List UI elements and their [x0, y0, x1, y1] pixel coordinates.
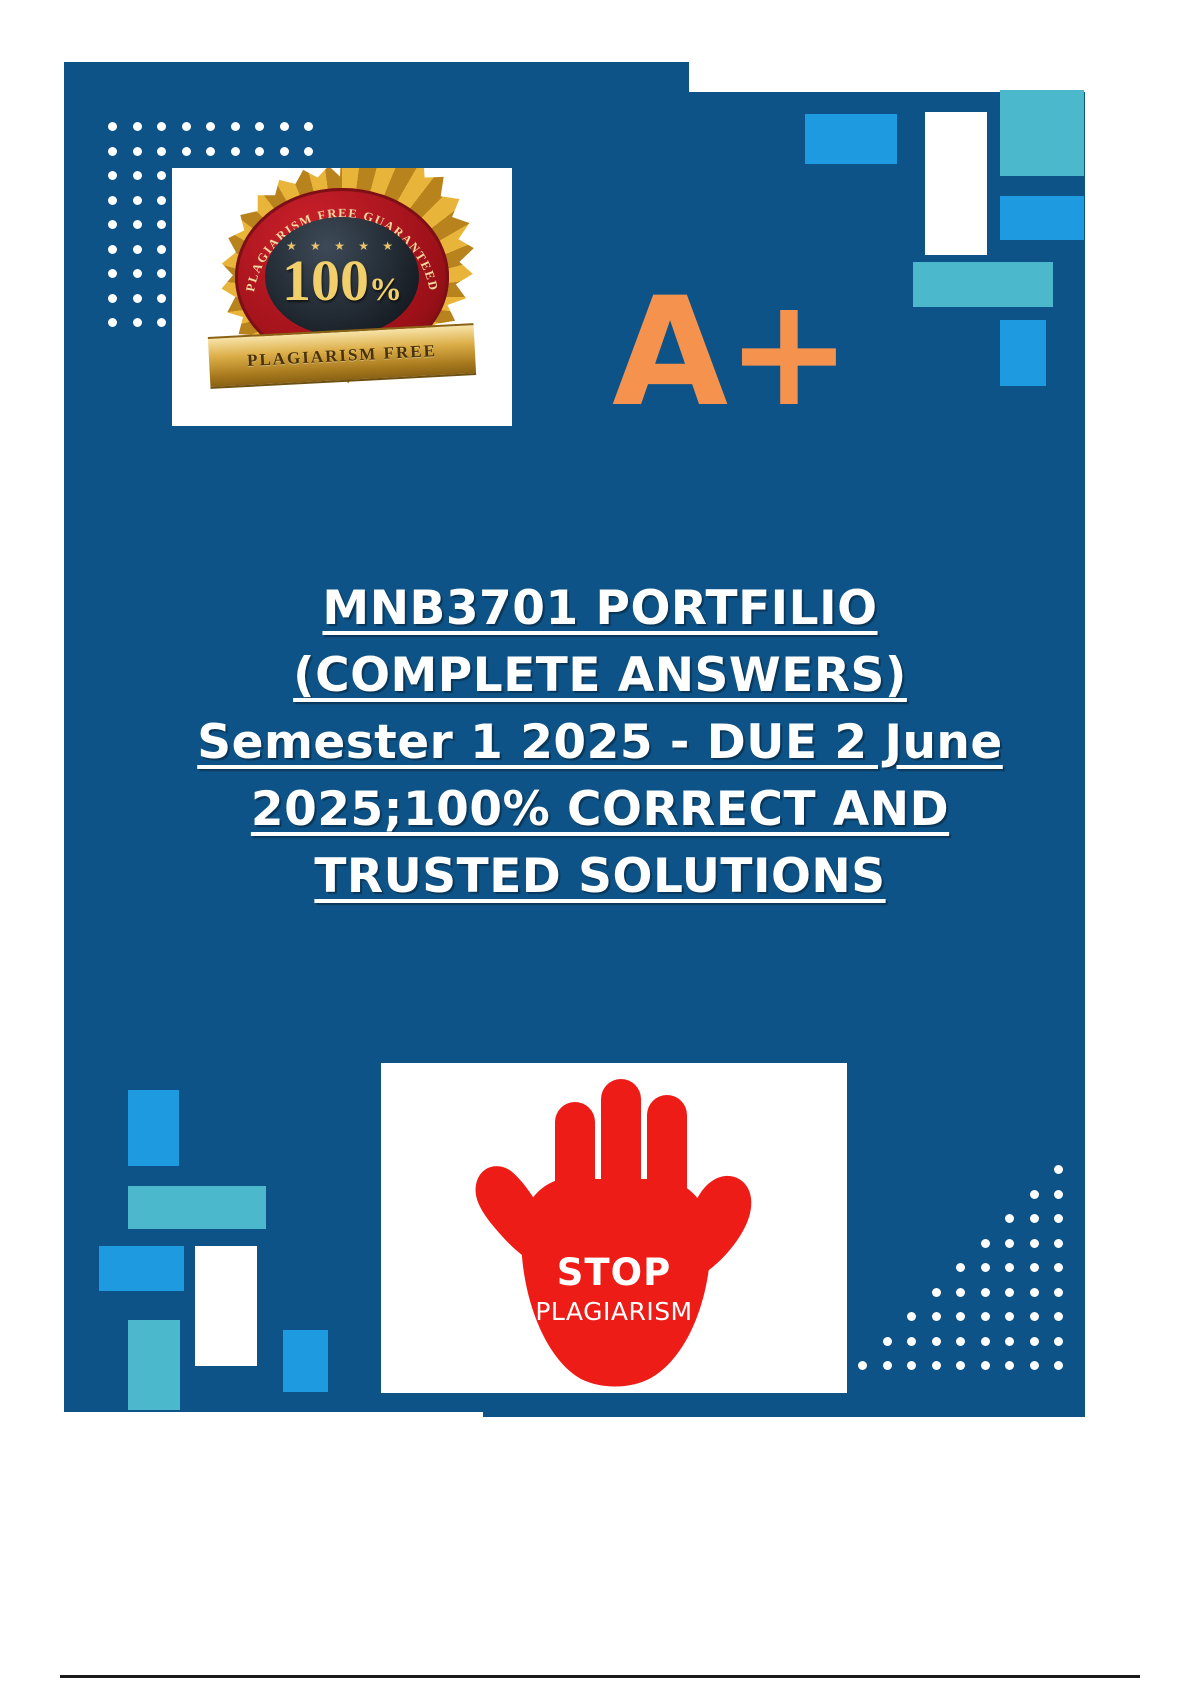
- dot: [1030, 1312, 1039, 1321]
- stop-plagiarism-hand: STOP PLAGIARISM: [449, 1067, 779, 1393]
- dot: [932, 1312, 941, 1321]
- dot: [932, 1361, 941, 1370]
- dot: [1054, 1165, 1063, 1174]
- dot: [304, 147, 313, 156]
- deco-rect-teal-3: [128, 1186, 266, 1229]
- dot: [1054, 1239, 1063, 1248]
- dot: [133, 294, 142, 303]
- dot: [956, 1288, 965, 1297]
- dot: [157, 171, 166, 180]
- title-line-3-text: Semester 1 2025 - DUE 2 June: [197, 715, 1003, 770]
- dot: [108, 220, 117, 229]
- dot: [157, 318, 166, 327]
- dot: [883, 1361, 892, 1370]
- dot: [1054, 1190, 1063, 1199]
- title-line-2: (COMPLETE ANSWERS): [100, 642, 1100, 709]
- dot: [157, 269, 166, 278]
- dot: [1005, 1263, 1014, 1272]
- dot: [108, 245, 117, 254]
- dot: [1005, 1288, 1014, 1297]
- dot: [956, 1361, 965, 1370]
- red-hand-icon: [449, 1067, 779, 1393]
- stop-label: STOP: [449, 1254, 779, 1291]
- deco-rect-blue-6: [283, 1330, 328, 1392]
- dot: [255, 122, 264, 131]
- dot: [133, 196, 142, 205]
- title-line-4: 2025;100% CORRECT AND: [100, 776, 1100, 843]
- dot: [981, 1337, 990, 1346]
- dot: [133, 269, 142, 278]
- badge-percent-symbol: %: [369, 272, 402, 308]
- dot: [133, 245, 142, 254]
- footer-divider: [60, 1675, 1140, 1678]
- dot: [206, 122, 215, 131]
- title-line-3: Semester 1 2025 - DUE 2 June: [100, 709, 1100, 776]
- dot: [182, 122, 191, 131]
- dot: [108, 147, 117, 156]
- dot: [981, 1312, 990, 1321]
- dot: [157, 220, 166, 229]
- dot: [133, 122, 142, 131]
- plagiarism-free-badge: PLAGIARISM FREE GUARANTEED ★ ★ ★ ★ ★ 100…: [219, 174, 465, 420]
- dot: [280, 147, 289, 156]
- dot: [157, 122, 166, 131]
- dot: [304, 122, 313, 131]
- badge-percent-value: 100: [282, 248, 369, 313]
- deco-rect-blue-5: [99, 1246, 184, 1291]
- dot: [255, 147, 264, 156]
- dot: [1030, 1337, 1039, 1346]
- dot: [206, 147, 215, 156]
- dot: [981, 1239, 990, 1248]
- stop-plagiarism-card: STOP PLAGIARISM: [381, 1063, 847, 1393]
- dot: [956, 1312, 965, 1321]
- dot: [1030, 1288, 1039, 1297]
- dot: [280, 122, 289, 131]
- dot: [956, 1263, 965, 1272]
- dot: [133, 147, 142, 156]
- dot: [858, 1361, 867, 1370]
- dot: [981, 1288, 990, 1297]
- title-line-1-text: MNB3701 PORTFILIO: [322, 581, 877, 636]
- deco-rect-blue-1: [805, 114, 897, 164]
- title-line-1: MNB3701 PORTFILIO: [100, 575, 1100, 642]
- dot: [981, 1263, 990, 1272]
- dot: [1005, 1312, 1014, 1321]
- deco-rect-white-1: [925, 112, 987, 255]
- dot: [1054, 1263, 1063, 1272]
- dot: [883, 1337, 892, 1346]
- deco-rect-blue-4: [128, 1090, 179, 1166]
- deco-rect-teal-4: [128, 1320, 180, 1410]
- dot: [981, 1361, 990, 1370]
- dot: [108, 122, 117, 131]
- dot: [1030, 1361, 1039, 1370]
- dot: [1005, 1239, 1014, 1248]
- deco-rect-white-2: [195, 1246, 257, 1366]
- title-line-4-text: 2025;100% CORRECT AND: [251, 782, 949, 837]
- title-line-5-text: TRUSTED SOLUTIONS: [314, 849, 885, 904]
- dot: [1030, 1239, 1039, 1248]
- dot: [1054, 1361, 1063, 1370]
- dot: [1030, 1263, 1039, 1272]
- document-page: PLAGIARISM FREE GUARANTEED ★ ★ ★ ★ ★ 100…: [0, 0, 1200, 1700]
- dot: [108, 196, 117, 205]
- dot: [133, 220, 142, 229]
- dot: [1054, 1214, 1063, 1223]
- dot: [133, 318, 142, 327]
- dot: [932, 1337, 941, 1346]
- dot: [907, 1361, 916, 1370]
- dot: [157, 245, 166, 254]
- plagiarism-label: PLAGIARISM: [449, 1299, 779, 1324]
- dot: [1054, 1337, 1063, 1346]
- dot: [1005, 1337, 1014, 1346]
- dot: [108, 318, 117, 327]
- dot: [1005, 1214, 1014, 1223]
- plagiarism-free-badge-card: PLAGIARISM FREE GUARANTEED ★ ★ ★ ★ ★ 100…: [172, 168, 512, 426]
- deco-rect-blue-2: [1000, 196, 1084, 240]
- dot: [932, 1288, 941, 1297]
- dot: [1005, 1361, 1014, 1370]
- grade-mark-a-plus: A+: [612, 278, 942, 428]
- dot: [182, 147, 191, 156]
- dot: [907, 1337, 916, 1346]
- dot: [108, 269, 117, 278]
- dot: [108, 294, 117, 303]
- dot: [1054, 1288, 1063, 1297]
- page-title: MNB3701 PORTFILIO (COMPLETE ANSWERS) Sem…: [100, 575, 1100, 910]
- dot: [907, 1312, 916, 1321]
- badge-percent: 100%: [219, 252, 465, 310]
- dot: [231, 122, 240, 131]
- dot: [956, 1337, 965, 1346]
- dot: [157, 147, 166, 156]
- title-line-5: TRUSTED SOLUTIONS: [100, 843, 1100, 910]
- dot: [157, 196, 166, 205]
- badge-ribbon-label: PLAGIARISM FREE: [247, 341, 438, 371]
- dot: [108, 171, 117, 180]
- dot: [1030, 1190, 1039, 1199]
- dot: [133, 171, 142, 180]
- dot: [1054, 1312, 1063, 1321]
- dot: [1030, 1214, 1039, 1223]
- dot: [231, 147, 240, 156]
- title-line-2-text: (COMPLETE ANSWERS): [293, 648, 907, 703]
- deco-rect-teal-1: [1000, 90, 1084, 176]
- dot: [157, 294, 166, 303]
- deco-rect-blue-3: [1000, 320, 1046, 386]
